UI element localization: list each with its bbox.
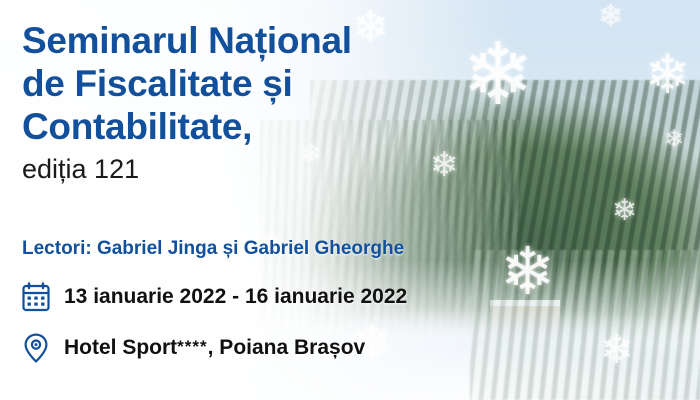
venue-row: Hotel Sport****, Poiana Brașov: [22, 333, 365, 363]
edition-label: ediția 121: [22, 155, 542, 185]
venue-text: Hotel Sport****, Poiana Brașov: [64, 336, 365, 360]
location-pin-icon: [22, 333, 50, 363]
title-line-3: Contabilitate,: [22, 106, 252, 147]
title-line-1: Seminarul Național: [22, 20, 352, 61]
banner-content: Seminarul Național de Fiscalitate și Con…: [22, 20, 542, 184]
venue-stars: ****: [177, 337, 207, 356]
venue-name: Hotel Sport: [64, 336, 177, 359]
lecturers-label: Lectori: Gabriel Jinga și Gabriel Gheorg…: [22, 238, 404, 260]
page-title: Seminarul Național de Fiscalitate și Con…: [22, 20, 542, 149]
date-row: 13 ianuarie 2022 - 16 ianuarie 2022: [22, 282, 407, 312]
calendar-icon: [22, 282, 50, 312]
title-line-2: de Fiscalitate și: [22, 63, 292, 104]
winter-seminar-banner: ❄ ❄ ❄ ❄ ❄ ❄ ❄ ❄ ❄ ❄ ❄ ❄ ❄ ❄ ❄ Seminarul …: [0, 0, 700, 400]
venue-location: , Poiana Brașov: [208, 336, 366, 359]
date-range-text: 13 ianuarie 2022 - 16 ianuarie 2022: [64, 285, 407, 309]
